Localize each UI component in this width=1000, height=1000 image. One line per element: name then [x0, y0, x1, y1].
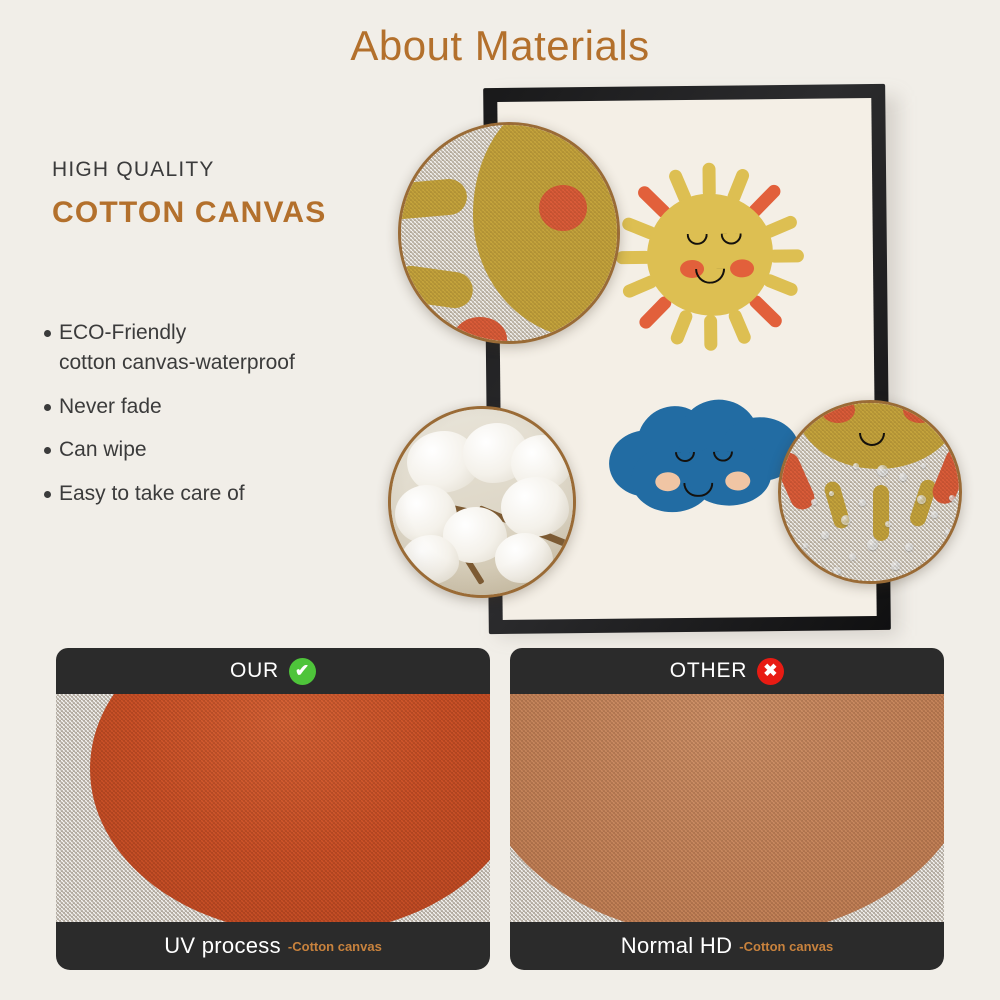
water-droplet [891, 561, 900, 570]
water-droplet [899, 473, 907, 481]
water-droplet [917, 495, 926, 504]
panel-body-our [56, 688, 490, 930]
bullet-dot-icon [44, 491, 51, 498]
sun-illustration [594, 141, 826, 373]
sun-ray-yellow [727, 308, 753, 346]
list-item: ECO-Friendly cotton canvas-waterproof [44, 318, 444, 378]
water-droplet [803, 543, 808, 548]
water-droplet [905, 543, 913, 551]
feature-line-1: ECO-Friendly [59, 321, 186, 344]
panel-header-label: OTHER [670, 659, 748, 683]
panel-header-our: OUR ✔ [56, 648, 490, 694]
panel-body-other [510, 688, 944, 930]
zoom-ray [873, 485, 889, 541]
feature-text: Easy to take care of [59, 479, 245, 509]
sun-ray-yellow [704, 315, 717, 351]
water-droplet [841, 515, 851, 525]
panel-header-label: OUR [230, 659, 279, 683]
list-item: Never fade [44, 392, 444, 422]
water-droplet [833, 567, 841, 575]
kicker-text: HIGH QUALITY [52, 158, 432, 182]
feature-text: ECO-Friendly cotton canvas-waterproof [59, 318, 295, 378]
footer-main-label: UV process [164, 933, 281, 959]
sun-ray-yellow [669, 308, 694, 346]
list-item: Easy to take care of [44, 479, 444, 509]
feature-list: ECO-Friendly cotton canvas-waterproof Ne… [44, 318, 444, 523]
water-droplet [811, 499, 817, 505]
page-title: About Materials [0, 22, 1000, 70]
water-droplet [937, 573, 942, 578]
magnifier-canvas-weave [398, 122, 620, 344]
water-droplet [867, 539, 878, 550]
water-droplet [945, 529, 951, 535]
bullet-dot-icon [44, 447, 51, 454]
water-droplet [921, 463, 926, 468]
panel-header-other: OTHER ✖ [510, 648, 944, 694]
photo-vignette [391, 409, 573, 595]
feature-line-2: cotton canvas-waterproof [59, 351, 295, 374]
water-droplet [849, 553, 856, 560]
bullet-dot-icon [44, 330, 51, 337]
water-droplet [909, 575, 915, 581]
bullet-dot-icon [44, 404, 51, 411]
feature-text: Can wipe [59, 435, 147, 465]
panel-footer-other: Normal HD -Cotton canvas [510, 922, 944, 970]
magnifier-waterproof [778, 400, 962, 584]
water-droplet [877, 465, 888, 476]
list-item: Can wipe [44, 435, 444, 465]
comparison-section: OUR ✔ UV process -Cotton canvas OTHER ✖ … [56, 648, 944, 970]
water-droplet [949, 495, 955, 501]
cross-icon: ✖ [757, 658, 784, 685]
magnifier-cotton-photo [388, 406, 576, 598]
sun-body [646, 193, 773, 316]
headline-text: COTTON CANVAS [52, 196, 432, 230]
water-droplet [885, 521, 891, 527]
water-droplet [821, 531, 829, 539]
comparison-panel-our: OUR ✔ UV process -Cotton canvas [56, 648, 490, 970]
check-icon: ✔ [289, 658, 316, 685]
water-droplet [829, 491, 834, 496]
water-droplet [927, 555, 933, 561]
water-droplet [873, 579, 880, 584]
footer-sub-label: -Cotton canvas [288, 939, 382, 954]
zoom-sun-cheek [539, 185, 587, 231]
water-droplet [853, 463, 859, 469]
comparison-panel-other: OTHER ✖ Normal HD -Cotton canvas [510, 648, 944, 970]
panel-footer-our: UV process -Cotton canvas [56, 922, 490, 970]
intro-copy: HIGH QUALITY COTTON CANVAS [52, 158, 432, 230]
water-droplet [931, 511, 938, 518]
sun-ray-yellow [768, 249, 804, 262]
feature-text: Never fade [59, 392, 162, 422]
water-droplet [859, 499, 866, 506]
footer-main-label: Normal HD [621, 933, 733, 959]
footer-sub-label: -Cotton canvas [739, 939, 833, 954]
color-swatch-normal [510, 688, 944, 930]
